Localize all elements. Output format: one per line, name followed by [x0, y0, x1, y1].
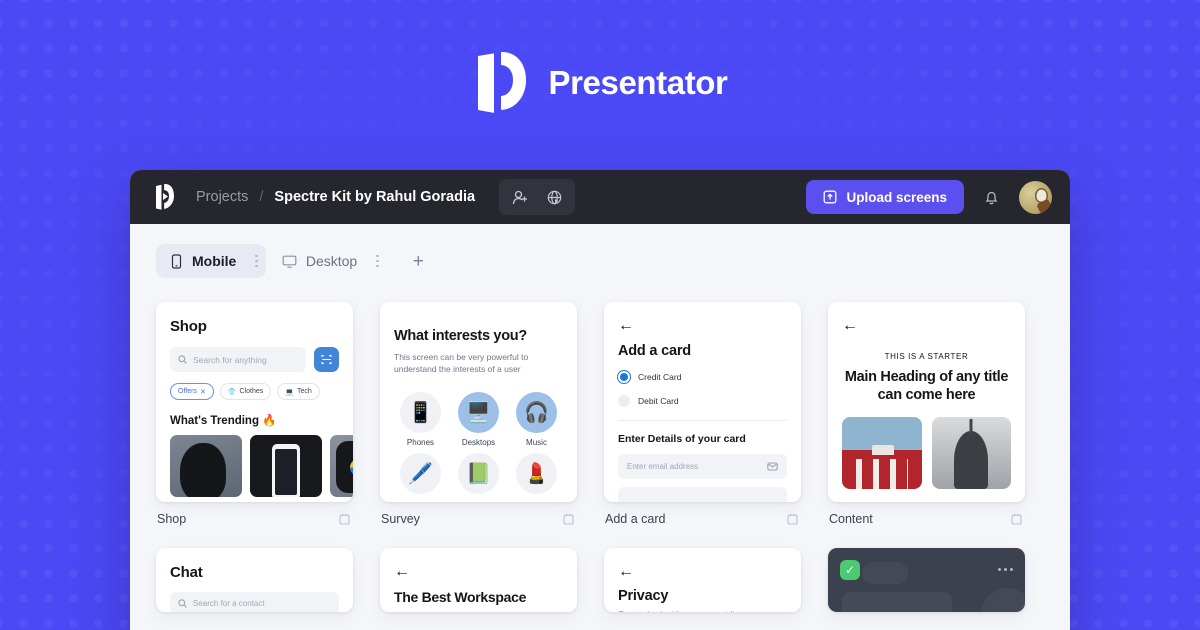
- laptop-icon: 💻: [285, 388, 294, 396]
- screen-title-survey: Survey: [381, 512, 420, 526]
- email-field-placeholder: Enter email address: [627, 462, 698, 471]
- chat-search-placeholder: Search for a contact: [193, 599, 265, 608]
- privacy-subtitle: Customize just how you want it: [618, 609, 787, 612]
- radio-debit-card-label: Debit Card: [638, 396, 679, 406]
- shop-trending-row: [170, 435, 339, 497]
- chat-search-input[interactable]: Search for a contact: [170, 592, 339, 612]
- tab-mobile-label: Mobile: [192, 253, 236, 269]
- presentator-mark-icon[interactable]: [154, 184, 174, 210]
- desktop-emoji-icon: 🖥️: [458, 392, 499, 433]
- screen-card-survey[interactable]: What interests you? This screen can be v…: [380, 302, 577, 526]
- chip-offers-label: Offers: [178, 388, 197, 395]
- trending-image-earphones[interactable]: [170, 435, 242, 497]
- content-kicker: THIS IS A STARTER: [842, 352, 1011, 361]
- screen-preview-add-a-card[interactable]: ← Add a card Credit Card Debit Card Ente…: [604, 302, 801, 502]
- workspace-heading: The Best Workspace: [394, 589, 563, 606]
- screen-title-shop: Shop: [157, 512, 186, 526]
- book-emoji-icon: 📗: [458, 453, 499, 494]
- user-avatar[interactable]: [1019, 181, 1052, 214]
- screen-preview-shop[interactable]: Shop Search for anything: [156, 302, 353, 502]
- chip-clothes-label: Clothes: [240, 388, 264, 395]
- tab-desktop-menu-icon[interactable]: [376, 255, 379, 268]
- screen-preview-chat[interactable]: Chat Search for a contact: [156, 548, 353, 612]
- back-arrow-icon[interactable]: ←: [394, 564, 563, 580]
- screen-options-icon[interactable]: [1011, 513, 1022, 525]
- shop-trending-heading: What's Trending 🔥: [170, 413, 339, 427]
- content-heading: Main Heading of any title can come here: [842, 368, 1011, 404]
- bell-icon[interactable]: [982, 188, 1001, 207]
- screen-preview-privacy[interactable]: ← Privacy Customize just how you want it: [604, 548, 801, 612]
- radio-debit-card-control[interactable]: [618, 395, 630, 407]
- survey-option-music[interactable]: 🎧 Music: [510, 392, 563, 447]
- survey-option-extra-1[interactable]: 🖊️: [394, 453, 447, 494]
- monitor-icon: [282, 254, 297, 269]
- back-arrow-icon[interactable]: ←: [618, 318, 787, 334]
- survey-heading: What interests you?: [394, 328, 563, 345]
- survey-option-extra-2[interactable]: 📗: [452, 453, 505, 494]
- breadcrumb-current-project[interactable]: Spectre Kit by Rahul Goradia: [274, 189, 475, 205]
- phone-emoji-icon: 📱: [400, 392, 441, 433]
- add-tab-button[interactable]: +: [405, 248, 432, 275]
- breadcrumb-projects[interactable]: Projects: [196, 189, 248, 205]
- screen-preview-dark[interactable]: ✓: [828, 548, 1025, 612]
- screen-preview-workspace[interactable]: ← The Best Workspace: [380, 548, 577, 612]
- survey-option-phones[interactable]: 📱 Phones: [394, 392, 447, 447]
- more-horizontal-icon[interactable]: [998, 568, 1013, 571]
- shop-search-input[interactable]: Search for anything: [170, 347, 306, 372]
- radio-credit-card-label: Credit Card: [638, 372, 681, 382]
- screen-card-add-a-card[interactable]: ← Add a card Credit Card Debit Card Ente…: [604, 302, 801, 526]
- add-person-icon[interactable]: [505, 184, 535, 210]
- screen-options-icon[interactable]: [339, 513, 350, 525]
- survey-option-extra-3[interactable]: 💄: [510, 453, 563, 494]
- header-action-group: [499, 179, 575, 215]
- screen-meta-add-a-card: Add a card: [604, 502, 801, 526]
- screen-meta-survey: Survey: [380, 502, 577, 526]
- shop-filter-chips: Offers ✕ 👕 Clothes 💻 Tech: [170, 383, 339, 400]
- pen-emoji-icon: 🖊️: [400, 453, 441, 494]
- screen-preview-survey[interactable]: What interests you? This screen can be v…: [380, 302, 577, 502]
- decorative-blob: [862, 562, 908, 584]
- content-image-row: [842, 417, 1011, 489]
- card-details-heading: Enter Details of your card: [618, 433, 787, 445]
- chip-tech-label: Tech: [297, 388, 312, 395]
- email-field[interactable]: Enter email address: [618, 454, 787, 479]
- headphones-emoji-icon: 🎧: [516, 392, 557, 433]
- screen-card-dark[interactable]: ✓: [828, 548, 1025, 612]
- survey-option-phones-label: Phones: [407, 438, 434, 447]
- shirt-icon: 👕: [228, 388, 237, 396]
- radio-debit-card[interactable]: Debit Card: [618, 395, 787, 407]
- shop-search-placeholder: Search for anything: [193, 355, 267, 365]
- survey-option-music-label: Music: [526, 438, 547, 447]
- screen-meta-content: Content: [828, 502, 1025, 526]
- screen-card-shop[interactable]: Shop Search for anything: [156, 302, 353, 526]
- globe-share-icon[interactable]: [539, 184, 569, 210]
- card-number-field[interactable]: [618, 487, 787, 502]
- chip-clothes[interactable]: 👕 Clothes: [220, 383, 271, 400]
- back-arrow-icon[interactable]: ←: [842, 318, 1011, 334]
- check-icon: ✓: [840, 560, 860, 580]
- phone-icon: [170, 254, 183, 269]
- tab-desktop[interactable]: Desktop: [268, 244, 387, 278]
- trending-image-phone[interactable]: [250, 435, 322, 497]
- lipstick-emoji-icon: 💄: [516, 453, 557, 494]
- screen-meta-shop: Shop: [156, 502, 353, 526]
- app-header: Projects / Spectre Kit by Rahul Goradia: [130, 170, 1070, 224]
- add-card-heading: Add a card: [618, 343, 787, 359]
- screen-preview-content[interactable]: ← THIS IS A STARTER Main Heading of any …: [828, 302, 1025, 502]
- scan-icon[interactable]: [314, 347, 339, 372]
- screen-title-add-a-card: Add a card: [605, 512, 665, 526]
- chip-tech[interactable]: 💻 Tech: [277, 383, 320, 400]
- privacy-heading: Privacy: [618, 588, 787, 604]
- decorative-blob: [981, 588, 1025, 612]
- radio-credit-card[interactable]: Credit Card: [618, 371, 787, 383]
- tab-mobile-menu-icon[interactable]: [255, 255, 258, 268]
- divider: [618, 420, 787, 421]
- app-window: Projects / Spectre Kit by Rahul Goradia: [130, 170, 1070, 630]
- header-right-group: Upload screens: [806, 180, 1052, 214]
- screen-title-content: Content: [829, 512, 873, 526]
- survey-option-grid-row2: 🖊️ 📗 💄: [394, 453, 563, 494]
- decorative-blob: [842, 592, 952, 612]
- tab-mobile[interactable]: Mobile: [156, 244, 266, 278]
- screens-grid-row-2: Chat Search for a contact ← The Best Wor…: [130, 526, 1070, 612]
- chip-offers[interactable]: Offers ✕: [170, 383, 214, 400]
- mail-icon: [767, 461, 778, 472]
- screen-card-privacy[interactable]: ← Privacy Customize just how you want it: [604, 548, 801, 612]
- content-image-building-red[interactable]: [842, 417, 922, 489]
- chat-heading: Chat: [170, 564, 339, 581]
- upload-icon: [823, 190, 837, 204]
- presentator-logo-icon: [472, 52, 526, 114]
- survey-option-desktops-label: Desktops: [462, 438, 495, 447]
- breadcrumb-separator: /: [259, 189, 263, 205]
- screens-grid-row-1: Shop Search for anything: [130, 278, 1070, 526]
- device-tabs: Mobile Desktop +: [130, 224, 1070, 278]
- brand-name: Presentator: [548, 64, 727, 102]
- brand-lockup: Presentator: [0, 52, 1200, 114]
- content-image-tower-bw[interactable]: [932, 417, 1012, 489]
- screen-options-icon[interactable]: [563, 513, 574, 525]
- close-icon[interactable]: ✕: [200, 388, 206, 396]
- radio-credit-card-control[interactable]: [618, 371, 630, 383]
- upload-screens-label: Upload screens: [846, 190, 947, 205]
- tab-desktop-label: Desktop: [306, 253, 357, 269]
- screen-card-chat[interactable]: Chat Search for a contact: [156, 548, 353, 612]
- survey-subtitle: This screen can be very powerful to unde…: [394, 351, 563, 377]
- survey-option-desktops[interactable]: 🖥️ Desktops: [452, 392, 505, 447]
- search-icon: [178, 599, 187, 608]
- back-arrow-icon[interactable]: ←: [618, 564, 787, 580]
- search-icon: [178, 355, 187, 364]
- shop-search-row: Search for anything: [170, 347, 339, 372]
- shop-heading: Shop: [170, 318, 339, 335]
- screen-options-icon[interactable]: [787, 513, 798, 525]
- trending-image-watch[interactable]: [330, 435, 353, 497]
- survey-option-grid: 📱 Phones 🖥️ Desktops 🎧 Music: [394, 392, 563, 447]
- screen-card-content[interactable]: ← THIS IS A STARTER Main Heading of any …: [828, 302, 1025, 526]
- upload-screens-button[interactable]: Upload screens: [806, 180, 964, 214]
- screen-card-workspace[interactable]: ← The Best Workspace: [380, 548, 577, 612]
